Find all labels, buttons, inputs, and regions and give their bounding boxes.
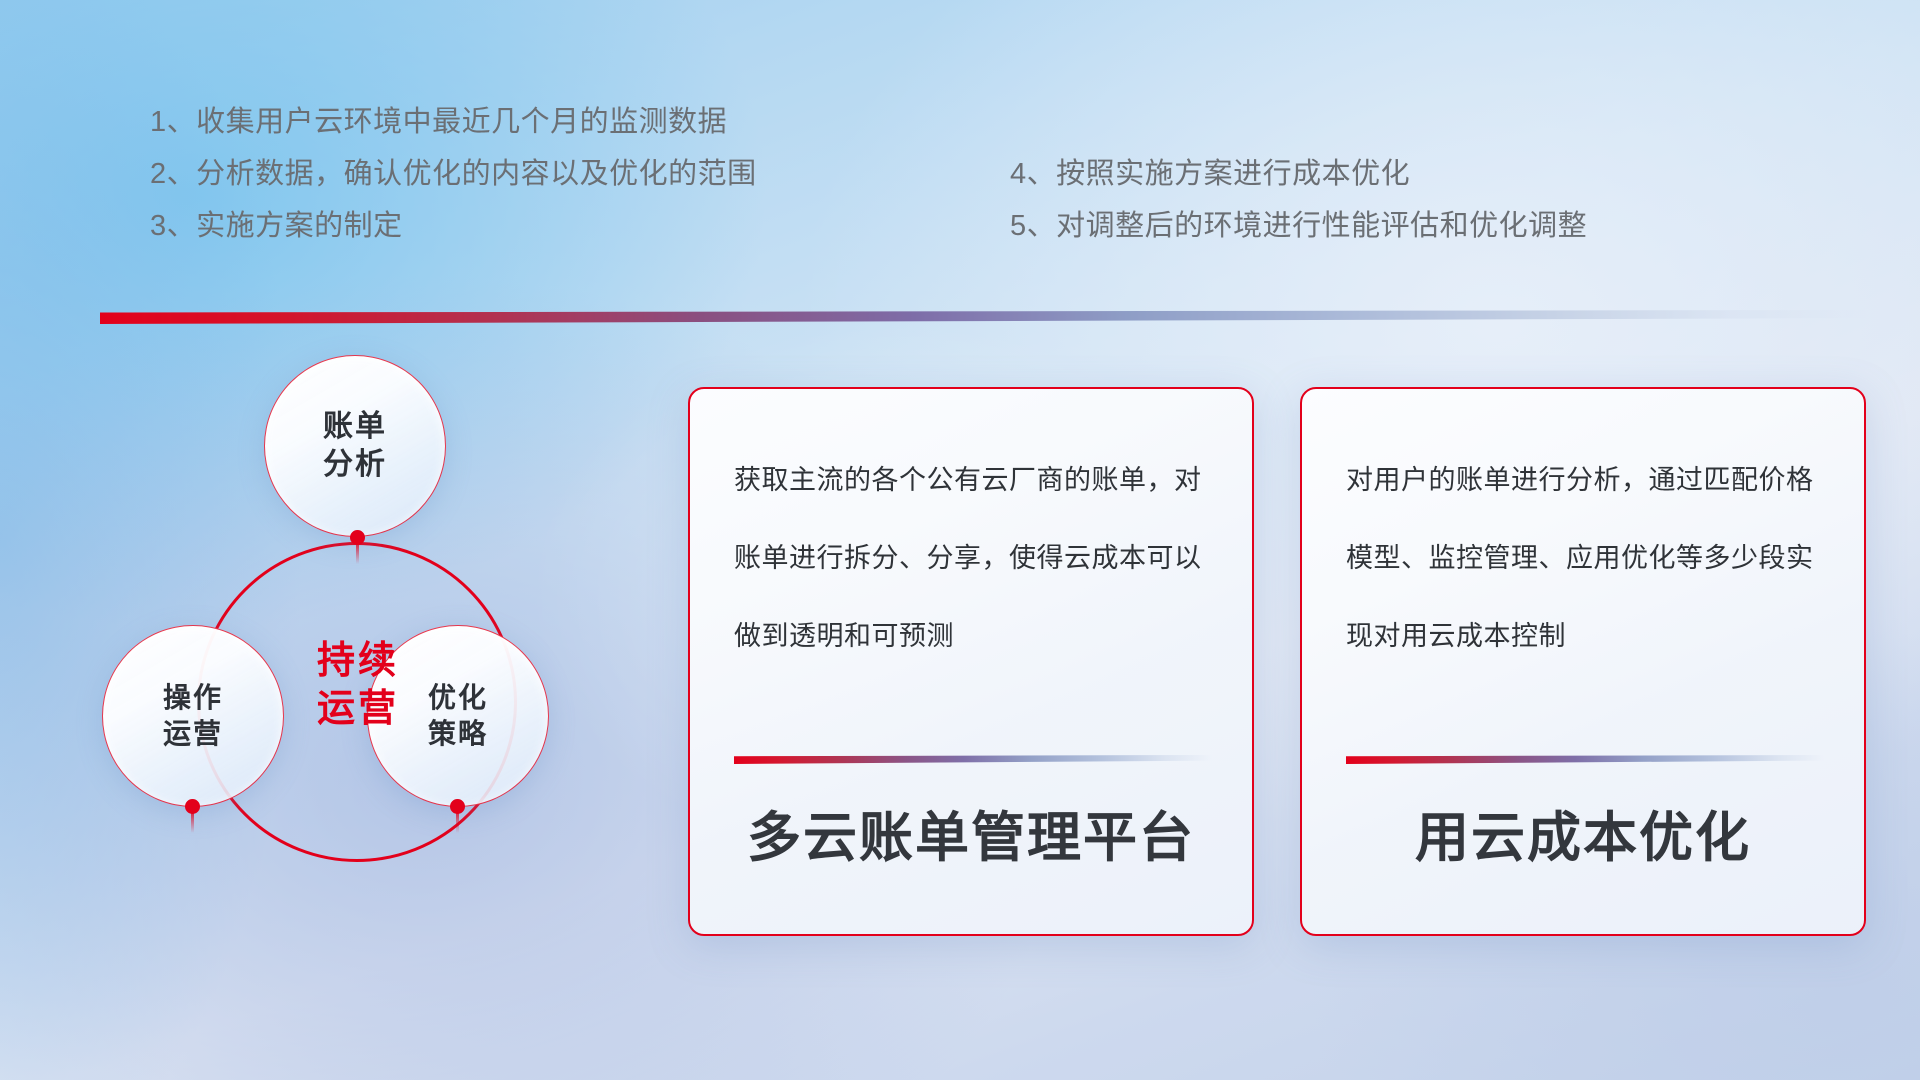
feature-card-2-rule xyxy=(1346,755,1824,764)
process-step-5: 5、对调整后的环境进行性能评估和优化调整 xyxy=(1010,200,1770,252)
diagram-node-operation-management[interactable]: 操作 运营 xyxy=(102,625,284,807)
process-steps-left-column: 1、收集用户云环境中最近几个月的监测数据 2、分析数据，确认优化的内容以及优化的… xyxy=(150,96,890,252)
feature-card-multi-cloud-billing-platform[interactable]: 获取主流的各个公有云厂商的账单，对账单进行拆分、分享，使得云成本可以做到透明和可… xyxy=(688,387,1254,936)
diagram-center-label: 持续 运营 xyxy=(278,637,438,733)
diagram-connector-dot-bottom-left xyxy=(185,799,200,814)
process-step-2: 2、分析数据，确认优化的内容以及优化的范围 xyxy=(150,148,890,200)
diagram-node-billing-analysis[interactable]: 账单 分析 xyxy=(264,355,446,537)
process-step-1: 1、收集用户云环境中最近几个月的监测数据 xyxy=(150,96,890,148)
feature-card-2-body: 对用户的账单进行分析，通过匹配价格模型、监控管理、应用优化等多少段实现对用云成本… xyxy=(1346,441,1820,675)
diagram-node-operation-management-line2: 运营 xyxy=(163,716,223,752)
process-step-4: 4、按照实施方案进行成本优化 xyxy=(1010,148,1770,200)
feature-card-1-rule xyxy=(734,755,1212,764)
feature-card-1-title: 多云账单管理平台 xyxy=(690,793,1252,872)
feature-card-cloud-cost-optimization[interactable]: 对用户的账单进行分析，通过匹配价格模型、监控管理、应用优化等多少段实现对用云成本… xyxy=(1300,387,1866,936)
diagram-connector-dot-bottom-right xyxy=(450,799,465,814)
continuous-operations-diagram: 账单 分析 操作 运营 优化 策略 持续 运营 xyxy=(100,350,620,950)
process-steps-right-column: 4、按照实施方案进行成本优化 5、对调整后的环境进行性能评估和优化调整 xyxy=(1010,148,1770,252)
diagram-center-label-line2: 运营 xyxy=(278,685,438,733)
diagram-node-billing-analysis-line1: 账单 xyxy=(323,408,387,446)
feature-card-1-body: 获取主流的各个公有云厂商的账单，对账单进行拆分、分享，使得云成本可以做到透明和可… xyxy=(734,441,1208,675)
process-step-3: 3、实施方案的制定 xyxy=(150,200,890,252)
feature-card-2-title: 用云成本优化 xyxy=(1302,793,1864,872)
diagram-node-operation-management-line1: 操作 xyxy=(163,680,223,716)
diagram-center-label-line1: 持续 xyxy=(278,637,438,685)
diagram-node-billing-analysis-line2: 分析 xyxy=(323,446,387,484)
diagram-connector-dot-top xyxy=(350,530,365,545)
